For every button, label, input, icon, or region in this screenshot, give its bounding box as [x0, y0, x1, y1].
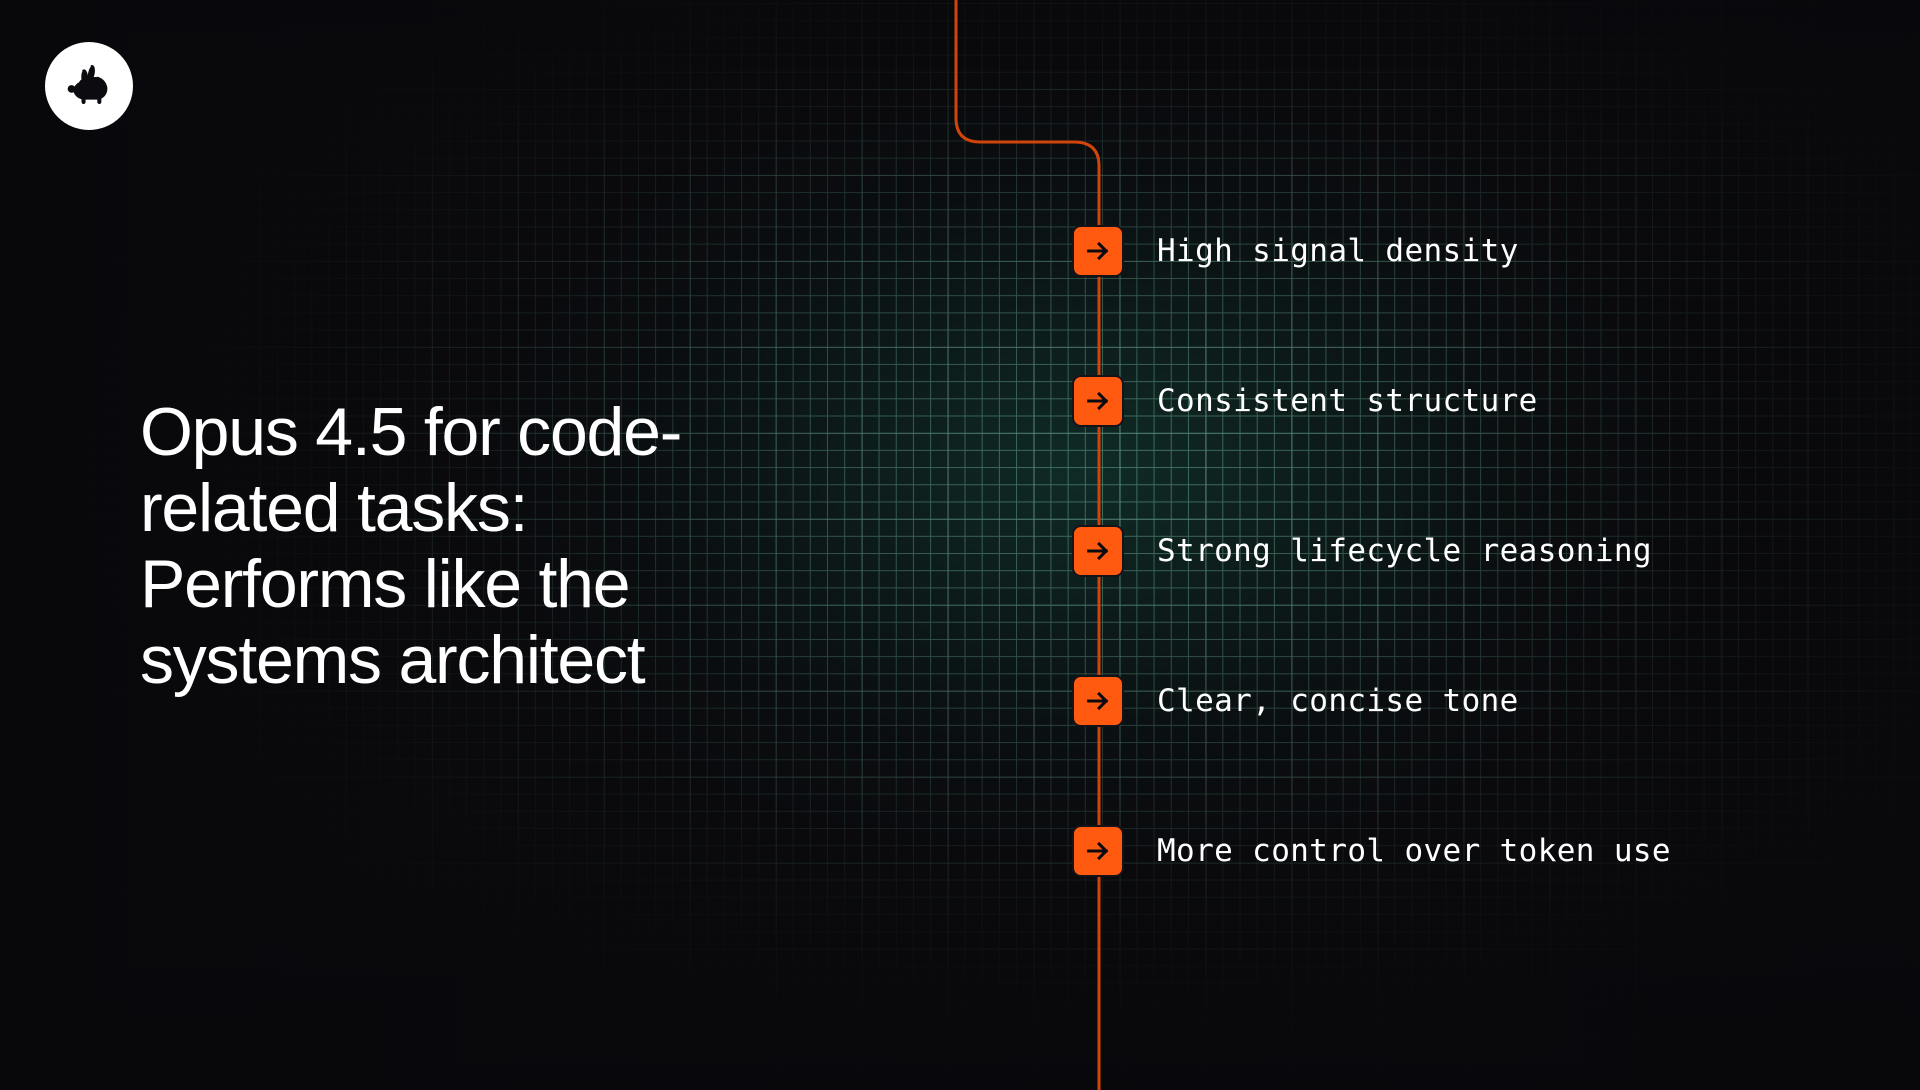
feature-item-1[interactable]: High signal density: [1072, 222, 1872, 280]
arrow-right-icon: [1084, 537, 1112, 565]
slide-canvas: Opus 4.5 for code-related tasks: Perform…: [0, 0, 1920, 1090]
arrow-right-icon: [1084, 237, 1112, 265]
arrow-right-icon: [1084, 687, 1112, 715]
arrow-right-icon: [1084, 837, 1112, 865]
page-title: Opus 4.5 for code-related tasks: Perform…: [140, 394, 860, 699]
arrow-badge[interactable]: [1072, 225, 1124, 277]
feature-label: High signal density: [1157, 233, 1519, 269]
feature-label: Strong lifecycle reasoning: [1157, 533, 1652, 569]
arrow-badge[interactable]: [1072, 675, 1124, 727]
feature-label: Consistent structure: [1157, 383, 1538, 419]
feature-label: Clear, concise tone: [1157, 683, 1519, 719]
feature-item-5[interactable]: More control over token use: [1072, 822, 1872, 880]
arrow-right-icon: [1084, 387, 1112, 415]
brand-logo: [45, 42, 133, 130]
feature-label: More control over token use: [1157, 833, 1671, 869]
feature-list: High signal density Consistent structure…: [1072, 222, 1872, 880]
arrow-badge[interactable]: [1072, 525, 1124, 577]
arrow-badge[interactable]: [1072, 825, 1124, 877]
arrow-badge[interactable]: [1072, 375, 1124, 427]
feature-item-2[interactable]: Consistent structure: [1072, 372, 1872, 430]
rabbit-logo-icon: [63, 60, 115, 112]
feature-item-3[interactable]: Strong lifecycle reasoning: [1072, 522, 1872, 580]
feature-item-4[interactable]: Clear, concise tone: [1072, 672, 1872, 730]
